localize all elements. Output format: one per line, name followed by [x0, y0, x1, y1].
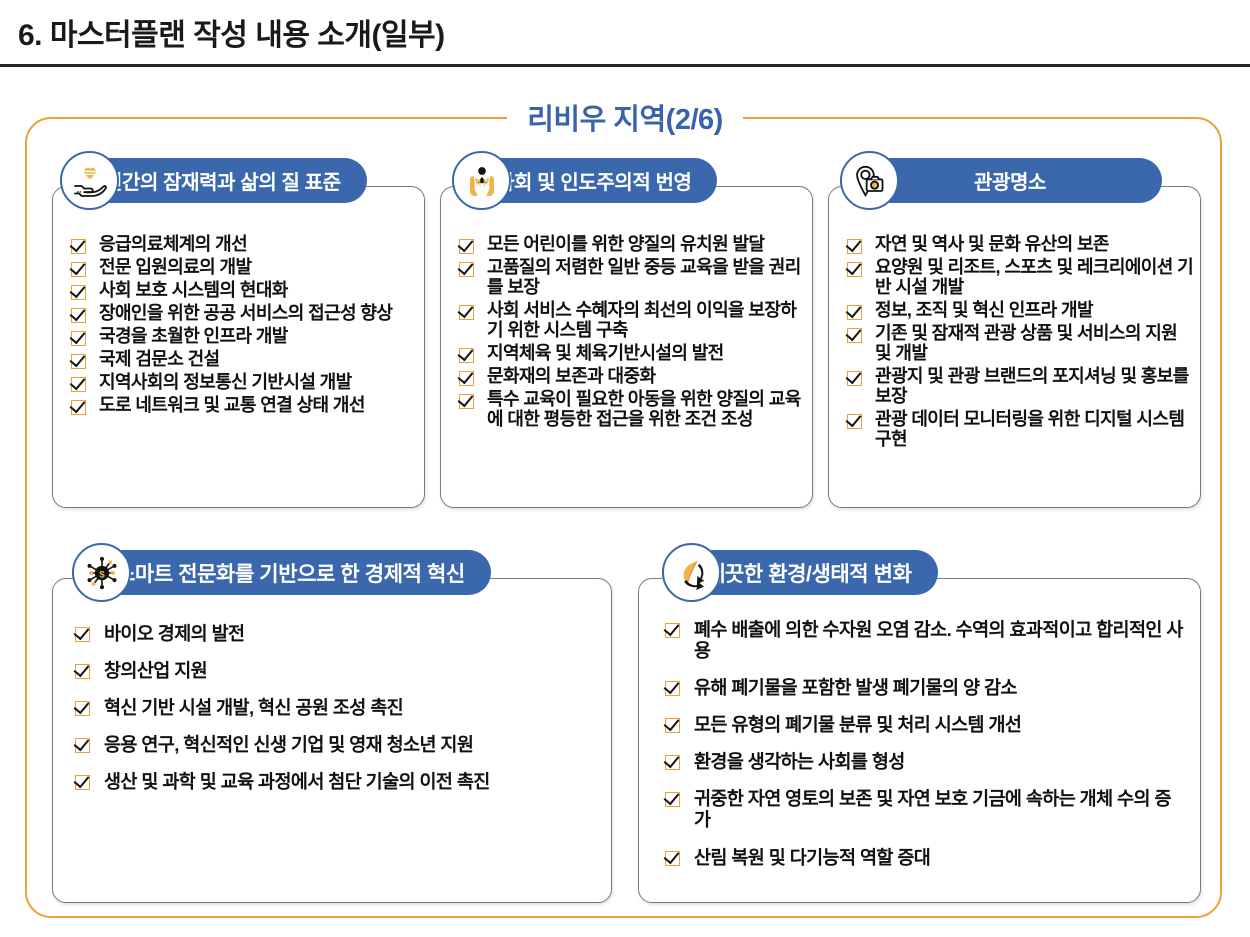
check-icon [71, 331, 86, 346]
list-item-label: 자연 및 역사 및 문화 유산의 보존 [875, 235, 1194, 255]
section-heading: 리비우 지역(2/6) [507, 96, 743, 138]
list-item: 유해 폐기물을 포함한 발생 폐기물의 양 감소 [665, 677, 1184, 698]
list-item-label: 모든 유형의 폐기물 분류 및 처리 시스템 개선 [694, 714, 1184, 735]
list-item-label: 지역체육 및 체육기반시설의 발전 [487, 344, 804, 364]
check-icon [847, 305, 862, 320]
svg-text:$: $ [99, 569, 105, 580]
card-title-label: 스마트 전문화를 기반으로 한 경제적 혁신 [116, 558, 465, 588]
card-header-environment: 깨끗한 환경/생태적 변화 [662, 550, 938, 595]
check-icon [665, 792, 680, 807]
card-header-tourism: 관광명소 [840, 158, 1162, 203]
check-icon [847, 239, 862, 254]
hand-holding-heart-icon [60, 151, 119, 210]
list-item-label: 도로 네트워크 및 교통 연결 상태 개선 [99, 396, 414, 416]
check-icon [71, 308, 86, 323]
list-item-label: 특수 교육이 필요한 아동을 위한 양질의 교육에 대한 평등한 접근을 위한 … [487, 390, 804, 430]
list-item: 전문 입원의료의 개발 [71, 258, 414, 278]
list-item-label: 관광 데이터 모니터링을 위한 디지털 시스템 구현 [875, 410, 1194, 450]
list-item: 자연 및 역사 및 문화 유산의 보존 [847, 235, 1194, 255]
bullet-list-environment: 폐수 배출에 의한 수자원 오염 감소. 수역의 효과적이고 합리적인 사용 유… [665, 619, 1184, 884]
list-item-label: 국경을 초월한 인프라 개발 [99, 327, 414, 347]
list-item: 창의산업 지원 [75, 660, 597, 681]
list-item: 귀중한 자연 영토의 보존 및 자연 보호 기금에 속하는 개체 수의 증가 [665, 788, 1184, 830]
list-item: 사회 보호 시스템의 현대화 [71, 281, 414, 301]
list-item: 응급의료체계의 개선 [71, 235, 414, 255]
check-icon [459, 262, 474, 277]
check-icon [847, 262, 862, 277]
check-icon [71, 400, 86, 415]
bullet-list-tourism: 자연 및 역사 및 문화 유산의 보존 요양원 및 리조트, 스포츠 및 레크리… [847, 235, 1194, 453]
list-item: 도로 네트워크 및 교통 연결 상태 개선 [71, 396, 414, 416]
check-icon [71, 354, 86, 369]
list-item: 지역사회의 정보통신 기반시설 개발 [71, 373, 414, 393]
list-item-label: 산림 복원 및 다기능적 역할 증대 [694, 847, 1184, 868]
bullet-list-health: 응급의료체계의 개선 전문 입원의료의 개발 사회 보호 시스템의 현대화 장애… [71, 235, 414, 419]
page-title: 6. 마스터플랜 작성 내용 소개(일부) [18, 10, 445, 54]
list-item-label: 바이오 경제의 발전 [104, 623, 597, 644]
list-item-label: 장애인을 위한 공공 서비스의 접근성 향상 [99, 304, 414, 324]
list-item: 특수 교육이 필요한 아동을 위한 양질의 교육에 대한 평등한 접근을 위한 … [459, 390, 804, 430]
list-item-label: 지역사회의 정보통신 기반시설 개발 [99, 373, 414, 393]
list-item: 요양원 및 리조트, 스포츠 및 레크리에이션 기반 시설 개발 [847, 258, 1194, 298]
list-item-label: 전문 입원의료의 개발 [99, 258, 414, 278]
list-item-label: 혁신 기반 시설 개발, 혁신 공원 조성 촉진 [104, 697, 597, 718]
list-item-label: 관광지 및 관광 브랜드의 포지셔닝 및 홍보를 보장 [875, 367, 1194, 407]
list-item: 모든 유형의 폐기물 분류 및 처리 시스템 개선 [665, 714, 1184, 735]
card-health: 응급의료체계의 개선 전문 입원의료의 개발 사회 보호 시스템의 현대화 장애… [52, 186, 425, 508]
list-item-label: 유해 폐기물을 포함한 발생 폐기물의 양 감소 [694, 677, 1184, 698]
leaf-recycle-icon [662, 543, 721, 602]
check-icon [459, 305, 474, 320]
list-item: 사회 서비스 수혜자의 최선의 이익을 보장하기 위한 시스템 구축 [459, 301, 804, 341]
check-icon [75, 775, 90, 790]
check-icon [847, 328, 862, 343]
list-item-label: 국제 검문소 건설 [99, 350, 414, 370]
check-icon [847, 414, 862, 429]
list-item: 관광지 및 관광 브랜드의 포지셔닝 및 홍보를 보장 [847, 367, 1194, 407]
list-item-label: 응급의료체계의 개선 [99, 235, 414, 255]
bullet-list-social: 모든 어린이를 위한 양질의 유치원 발달 고품질의 저렴한 일반 중등 교육을… [459, 235, 804, 433]
card-title-label: 사회 및 인도주의적 번영 [496, 166, 691, 195]
card-header-social: 사회 및 인도주의적 번영 [452, 158, 717, 203]
list-item: 생산 및 과학 및 교육 과정에서 첨단 기술의 이전 촉진 [75, 771, 597, 792]
check-icon [71, 377, 86, 392]
section-heading-wrap: 리비우 지역(2/6) [0, 96, 1250, 138]
list-item-label: 귀중한 자연 영토의 보존 및 자연 보호 기금에 속하는 개체 수의 증가 [694, 788, 1184, 830]
card-social: 모든 어린이를 위한 양질의 유치원 발달 고품질의 저렴한 일반 중등 교육을… [440, 186, 813, 508]
list-item-label: 응용 연구, 혁신적인 신생 기업 및 영재 청소년 지원 [104, 734, 597, 755]
list-item: 산림 복원 및 다기능적 역할 증대 [665, 847, 1184, 868]
check-icon [665, 851, 680, 866]
list-item-label: 창의산업 지원 [104, 660, 597, 681]
list-item: 폐수 배출에 의한 수자원 오염 감소. 수역의 효과적이고 합리적인 사용 [665, 619, 1184, 661]
list-item: 장애인을 위한 공공 서비스의 접근성 향상 [71, 304, 414, 324]
list-item: 관광 데이터 모니터링을 위한 디지털 시스템 구현 [847, 410, 1194, 450]
list-item: 고품질의 저렴한 일반 중등 교육을 받을 권리를 보장 [459, 258, 804, 298]
list-item-label: 사회 보호 시스템의 현대화 [99, 281, 414, 301]
list-item-label: 문화재의 보존과 대중화 [487, 367, 804, 387]
list-item-label: 고품질의 저렴한 일반 중등 교육을 받을 권리를 보장 [487, 258, 804, 298]
list-item-label: 폐수 배출에 의한 수자원 오염 감소. 수역의 효과적이고 합리적인 사용 [694, 619, 1184, 661]
slide-root: 6. 마스터플랜 작성 내용 소개(일부) 리비우 지역(2/6) 응급의료체계… [0, 0, 1250, 937]
card-title-label: 관광명소 [974, 166, 1046, 195]
list-item-label: 기존 및 잠재적 관광 상품 및 서비스의 지원 및 개발 [875, 324, 1194, 364]
list-item-label: 생산 및 과학 및 교육 과정에서 첨단 기술의 이전 촉진 [104, 771, 597, 792]
card-environment: 폐수 배출에 의한 수자원 오염 감소. 수역의 효과적이고 합리적인 사용 유… [638, 578, 1201, 903]
check-icon [847, 371, 862, 386]
list-item: 문화재의 보존과 대중화 [459, 367, 804, 387]
card-header-health: 인간의 잠재력과 삶의 질 표준 [60, 158, 367, 203]
card-header-economy: 스마트 전문화를 기반으로 한 경제적 혁신 $ [72, 550, 491, 595]
list-item: 바이오 경제의 발전 [75, 623, 597, 644]
card-title-label: 인간의 잠재력과 삶의 질 표준 [104, 166, 341, 195]
list-item-label: 요양원 및 리조트, 스포츠 및 레크리에이션 기반 시설 개발 [875, 258, 1194, 298]
check-icon [75, 664, 90, 679]
check-icon [459, 348, 474, 363]
check-icon [665, 681, 680, 696]
check-icon [75, 738, 90, 753]
check-icon [665, 718, 680, 733]
check-icon [71, 239, 86, 254]
list-item: 국경을 초월한 인프라 개발 [71, 327, 414, 347]
check-icon [665, 623, 680, 638]
network-dollar-icon: $ [72, 543, 131, 602]
check-icon [75, 627, 90, 642]
list-item: 모든 어린이를 위한 양질의 유치원 발달 [459, 235, 804, 255]
map-pin-camera-icon [840, 151, 899, 210]
list-item: 혁신 기반 시설 개발, 혁신 공원 조성 촉진 [75, 697, 597, 718]
list-item: 지역체육 및 체육기반시설의 발전 [459, 344, 804, 364]
list-item: 환경을 생각하는 사회를 형성 [665, 751, 1184, 772]
check-icon [459, 394, 474, 409]
check-icon [665, 755, 680, 770]
card-title-label: 깨끗한 환경/생태적 변화 [706, 558, 912, 588]
card-economy: 바이오 경제의 발전 창의산업 지원 혁신 기반 시설 개발, 혁신 공원 조성… [52, 578, 612, 903]
check-icon [459, 371, 474, 386]
bullet-list-economy: 바이오 경제의 발전 창의산업 지원 혁신 기반 시설 개발, 혁신 공원 조성… [75, 623, 597, 808]
check-icon [71, 285, 86, 300]
check-icon [75, 701, 90, 716]
list-item: 기존 및 잠재적 관광 상품 및 서비스의 지원 및 개발 [847, 324, 1194, 364]
list-item: 응용 연구, 혁신적인 신생 기업 및 영재 청소년 지원 [75, 734, 597, 755]
list-item: 정보, 조직 및 혁신 인프라 개발 [847, 301, 1194, 321]
hands-holding-person-icon [452, 151, 511, 210]
list-item-label: 정보, 조직 및 혁신 인프라 개발 [875, 301, 1194, 321]
list-item-label: 사회 서비스 수혜자의 최선의 이익을 보장하기 위한 시스템 구축 [487, 301, 804, 341]
check-icon [71, 262, 86, 277]
list-item: 국제 검문소 건설 [71, 350, 414, 370]
card-title-pill: 스마트 전문화를 기반으로 한 경제적 혁신 [72, 550, 491, 595]
card-tourism: 자연 및 역사 및 문화 유산의 보존 요양원 및 리조트, 스포츠 및 레크리… [828, 186, 1201, 508]
list-item-label: 환경을 생각하는 사회를 형성 [694, 751, 1184, 772]
check-icon [459, 239, 474, 254]
list-item-label: 모든 어린이를 위한 양질의 유치원 발달 [487, 235, 804, 255]
title-divider [0, 64, 1250, 67]
